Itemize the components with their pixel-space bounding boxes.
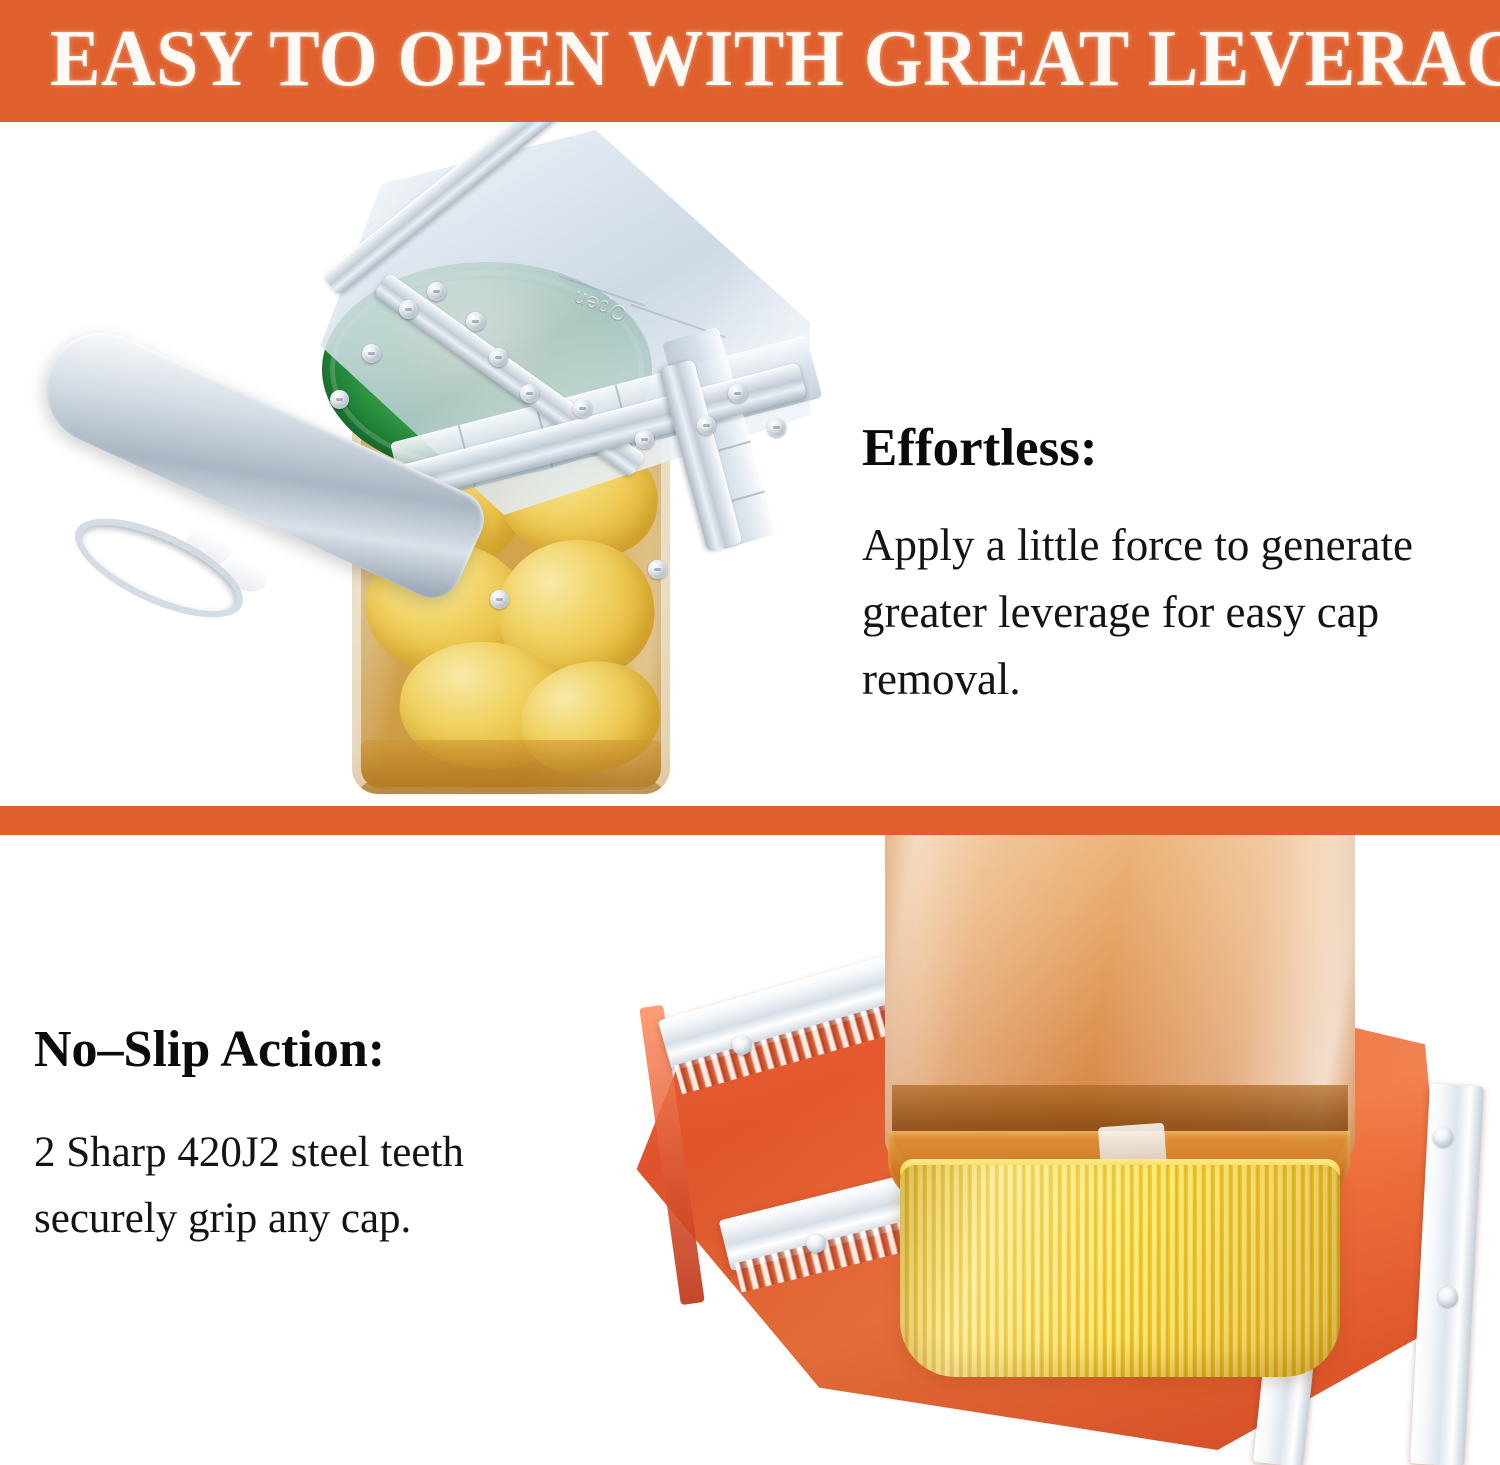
rivet bbox=[427, 282, 446, 301]
section-divider-bar bbox=[0, 806, 1500, 835]
rivet bbox=[1438, 1287, 1458, 1307]
feature-panel-effortless: Open bbox=[0, 122, 1500, 806]
jar-opener-tool: Open bbox=[0, 122, 840, 806]
page-title: EASY TO OPEN WITH GREAT LEVERAGE bbox=[50, 6, 1368, 110]
feature-text-no-slip: No–Slip Action: 2 Sharp 420J2 steel teet… bbox=[34, 1020, 594, 1252]
rivet bbox=[806, 1233, 826, 1253]
handle-hanging-hole bbox=[71, 508, 247, 629]
rivet bbox=[635, 430, 654, 449]
rivet bbox=[399, 300, 418, 319]
rivet bbox=[362, 344, 381, 363]
rivet bbox=[648, 560, 667, 579]
rivet bbox=[1433, 1127, 1453, 1147]
feature-body-no-slip: 2 Sharp 420J2 steel teeth securely grip … bbox=[34, 1120, 594, 1252]
rivet bbox=[330, 390, 349, 409]
header-banner: EASY TO OPEN WITH GREAT LEVERAGE bbox=[0, 0, 1500, 122]
rivet bbox=[520, 384, 539, 403]
rivet bbox=[697, 416, 716, 435]
rivet bbox=[466, 312, 485, 331]
feature-heading-no-slip: No–Slip Action: bbox=[34, 1020, 594, 1080]
rivet bbox=[732, 1035, 752, 1055]
rivet bbox=[728, 384, 747, 403]
rivet bbox=[573, 399, 592, 418]
feature-text-effortless: Effortless: Apply a little force to gene… bbox=[862, 418, 1472, 713]
rivet bbox=[489, 348, 508, 367]
jar-opener-on-green-lid-photo: Open bbox=[0, 122, 840, 806]
rivet bbox=[767, 418, 786, 437]
feature-heading-effortless: Effortless: bbox=[862, 418, 1472, 478]
rivet bbox=[490, 590, 509, 609]
yellow-ribbed-cap bbox=[900, 1165, 1340, 1377]
feature-panel-no-slip: No–Slip Action: 2 Sharp 420J2 steel teet… bbox=[0, 835, 1500, 1465]
feature-body-effortless: Apply a little force to generate greater… bbox=[862, 512, 1472, 713]
steel-teeth-gripping-yellow-cap-photo bbox=[600, 835, 1500, 1465]
